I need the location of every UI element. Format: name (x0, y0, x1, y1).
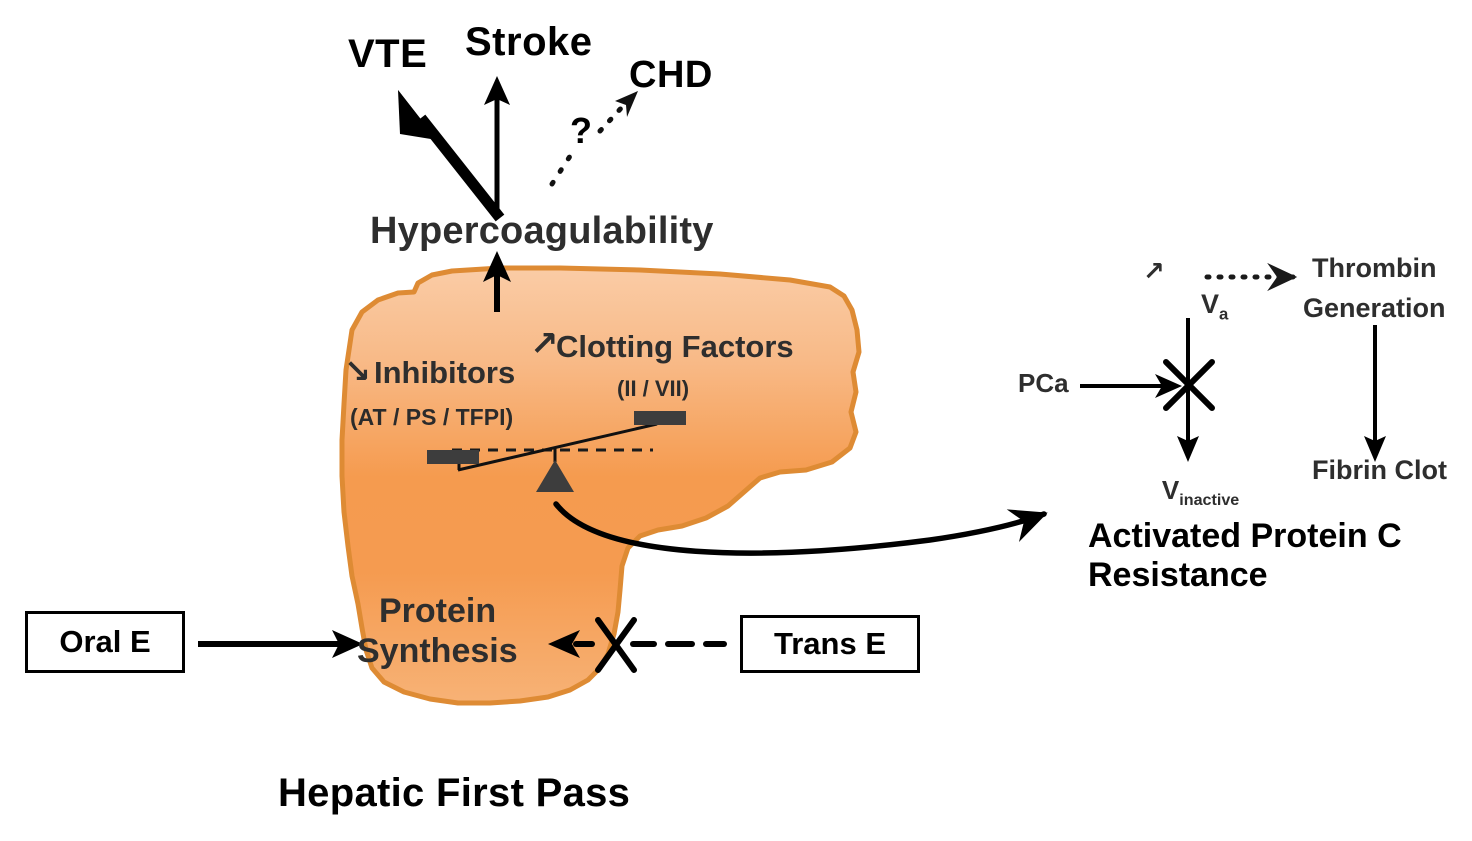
label-apc-resistance-line2: Resistance (1088, 558, 1268, 594)
diagram-canvas: VTE Stroke CHD ? Hypercoagulability ↗ Cl… (0, 0, 1472, 841)
oral-estrogen-label: Oral E (59, 624, 150, 660)
label-thrombin-line2: Generation (1303, 294, 1446, 322)
transdermal-estrogen-box[interactable]: Trans E (740, 615, 920, 673)
label-clotting-factors: Clotting Factors (556, 331, 794, 364)
oral-estrogen-box[interactable]: Oral E (25, 611, 185, 673)
arrow-hypercoagulability-to-stroke (484, 76, 510, 212)
label-protein-synthesis-line1: Protein (379, 594, 496, 630)
clotting-factors-up-arrow-icon: ↗ (530, 327, 559, 363)
label-stroke: Stroke (465, 21, 593, 63)
arrow-hypercoagulability-to-chd (552, 91, 638, 184)
label-factor-va: Va (1171, 262, 1228, 352)
label-inhibitors: Inhibitors (374, 357, 515, 390)
inhibitors-down-arrow-icon: ↘ (344, 355, 371, 389)
page-title: Hepatic First Pass (278, 772, 630, 814)
label-vte: VTE (348, 33, 427, 75)
label-chd: CHD (629, 56, 713, 96)
transdermal-estrogen-label: Trans E (774, 626, 886, 662)
arrow-hypercoagulability-to-vte (398, 90, 500, 218)
label-pca: PCa (1018, 370, 1069, 397)
factor-va-subscript: a (1219, 305, 1228, 324)
label-protein-synthesis-line2: Synthesis (357, 634, 518, 670)
label-hypercoagulability: Hypercoagulability (370, 212, 714, 252)
factor-v-inactive-subscript: inactive (1179, 491, 1239, 509)
label-thrombin-line1: Thrombin (1312, 254, 1436, 282)
label-apc-resistance-line1: Activated Protein C (1088, 519, 1402, 555)
label-uncertainty-question-mark: ? (570, 112, 592, 150)
diagram-vector-layer (0, 0, 1472, 841)
arrow-oral-e-to-protein-synthesis (198, 630, 363, 658)
label-clotting-factors-detail: (II / VII) (617, 377, 689, 400)
label-inhibitors-detail: (AT / PS / TFPI) (350, 405, 513, 429)
label-fibrin-clot: Fibrin Clot (1312, 456, 1447, 484)
va-increase-arrow-icon: ↗ (1143, 258, 1165, 285)
